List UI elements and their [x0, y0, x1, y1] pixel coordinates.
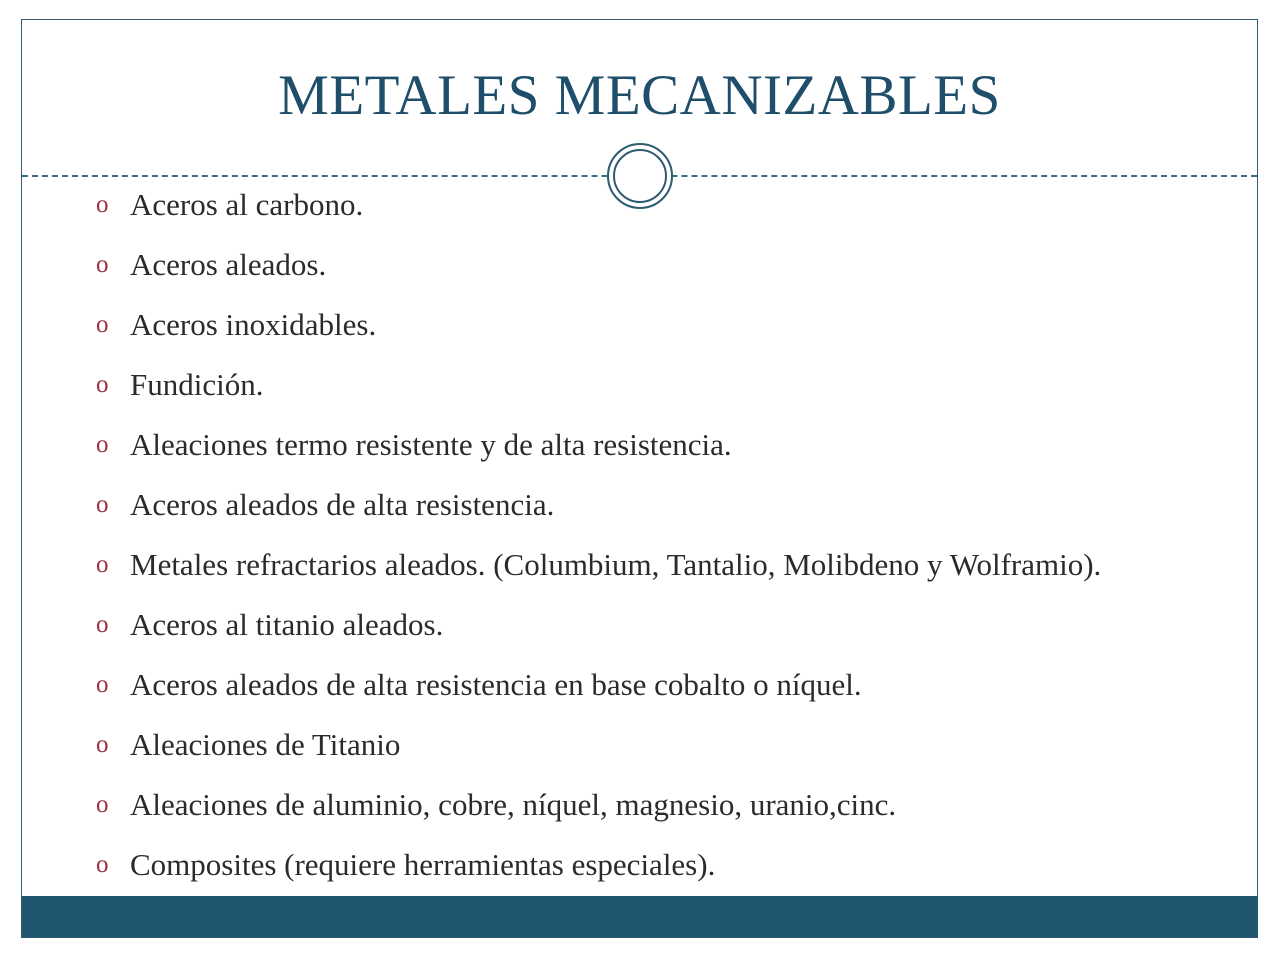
title-area: METALES MECANIZABLES — [21, 50, 1258, 142]
bullet-marker-icon: o — [96, 726, 130, 762]
list-item[interactable]: oAceros aleados de alta resistencia en b… — [96, 666, 1216, 704]
bullet-marker-icon: o — [96, 846, 130, 882]
list-item[interactable]: oComposites (requiere herramientas espec… — [96, 846, 1216, 884]
list-item-label: Aleaciones de aluminio, cobre, níquel, m… — [130, 786, 1216, 824]
list-item-label: Aceros al carbono. — [130, 186, 1216, 224]
bullet-marker-icon: o — [96, 546, 130, 582]
list-item-label: Metales refractarios aleados. (Columbium… — [130, 546, 1216, 584]
list-item[interactable]: oAceros al titanio aleados. — [96, 606, 1216, 644]
list-item[interactable]: oAleaciones termo resistente y de alta r… — [96, 426, 1216, 464]
list-item-label: Aceros aleados de alta resistencia en ba… — [130, 666, 1216, 704]
bullet-marker-icon: o — [96, 666, 130, 702]
bullet-marker-icon: o — [96, 186, 130, 222]
list-item-label: Aleaciones de Titanio — [130, 726, 1216, 764]
list-item[interactable]: oAceros al carbono. — [96, 186, 1216, 224]
bullet-marker-icon: o — [96, 486, 130, 522]
list-item-label: Aceros inoxidables. — [130, 306, 1216, 344]
list-item[interactable]: oFundición. — [96, 366, 1216, 404]
bullet-marker-icon: o — [96, 786, 130, 822]
bullet-marker-icon: o — [96, 366, 130, 402]
list-item-label: Aceros al titanio aleados. — [130, 606, 1216, 644]
list-item-label: Aceros aleados. — [130, 246, 1216, 284]
slide-canvas: METALES MECANIZABLES oAceros al carbono.… — [0, 0, 1280, 960]
bullet-list: oAceros al carbono.oAceros aleados.oAcer… — [96, 186, 1216, 906]
list-item[interactable]: oAceros inoxidables. — [96, 306, 1216, 344]
list-item[interactable]: oAleaciones de Titanio — [96, 726, 1216, 764]
list-item[interactable]: oAceros aleados. — [96, 246, 1216, 284]
list-item[interactable]: oAleaciones de aluminio, cobre, níquel, … — [96, 786, 1216, 824]
bullet-marker-icon: o — [96, 426, 130, 462]
list-item[interactable]: oAceros aleados de alta resistencia. — [96, 486, 1216, 524]
list-item[interactable]: oMetales refractarios aleados. (Columbiu… — [96, 546, 1216, 584]
bullet-marker-icon: o — [96, 246, 130, 282]
list-item-label: Composites (requiere herramientas especi… — [130, 846, 1216, 884]
list-item-label: Fundición. — [130, 366, 1216, 404]
list-item-label: Aleaciones termo resistente y de alta re… — [130, 426, 1216, 464]
bottom-accent-bar — [22, 896, 1258, 937]
list-item-label: Aceros aleados de alta resistencia. — [130, 486, 1216, 524]
page-title: METALES MECANIZABLES — [278, 66, 1001, 126]
bullet-marker-icon: o — [96, 606, 130, 642]
bullet-marker-icon: o — [96, 306, 130, 342]
